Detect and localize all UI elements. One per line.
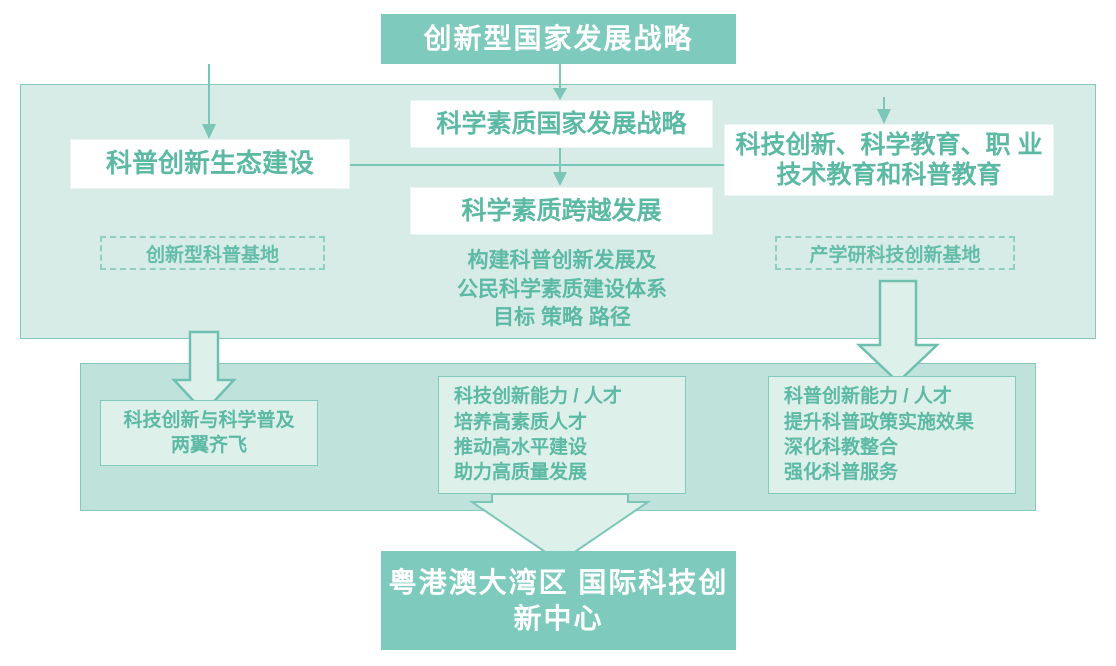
connector-line-horizontal [350, 164, 742, 166]
dashed-box-industry-academia-research-base[interactable]: 产学研科技创新基地 [775, 236, 1015, 270]
box-popular-science-capability-line2: 提升科普政策实施效果 [784, 410, 1015, 435]
bottom-banner: 粤港澳大湾区 国际科技创新中心 [381, 551, 736, 650]
box-popular-science-capability-line4: 强化科普服务 [784, 460, 1015, 485]
box-tech-innovation-capability[interactable]: 科技创新能力 / 人才 培养高素质人才 推动高水平建设 助力高质量发展 [438, 376, 686, 494]
box-popular-science-capability[interactable]: 科普创新能力 / 人才 提升科普政策实施效果 深化科教整合 强化科普服务 [768, 376, 1016, 494]
box-popular-science-capability-line1: 科普创新能力 / 人才 [784, 384, 1015, 409]
box-tech-innovation-education-line1: 科技创新、科学教育、职 [736, 131, 1011, 159]
dashed-box-innovative-popular-science-base[interactable]: 创新型科普基地 [100, 236, 325, 270]
box-two-wings-line2: 两翼齐飞 [123, 433, 294, 458]
center-objective-text: 构建科普创新发展及 公民科学素质建设体系 目标 策略 路径 [400, 248, 724, 332]
box-two-wings-line1: 科技创新与科学普及 [123, 408, 294, 433]
box-popular-science-capability-line3: 深化科教整合 [784, 435, 1015, 460]
box-tech-innovation-capability-line3: 推动高水平建设 [454, 435, 685, 460]
bottom-banner-line1: 粤港澳大湾区 [389, 567, 569, 598]
center-objective-line1: 构建科普创新发展及 [468, 247, 657, 275]
box-tech-innovation-education[interactable]: 科技创新、科学教育、职 业技术教育和科普教育 [724, 124, 1054, 196]
box-science-quality-leapfrog-development[interactable]: 科学素质跨越发展 [410, 187, 713, 235]
box-tech-innovation-capability-line1: 科技创新能力 / 人才 [454, 384, 685, 409]
box-science-popularization-innovation-ecology[interactable]: 科普创新生态建设 [70, 139, 350, 189]
box-tech-innovation-capability-line4: 助力高质量发展 [454, 460, 685, 485]
diagram-canvas: 创新型国家发展战略 科普创新生态建设 科学素质国家发展战略 科学素质跨越发展 科… [0, 0, 1116, 666]
top-banner: 创新型国家发展战略 [381, 14, 736, 64]
box-tech-innovation-capability-line2: 培养高素质人才 [454, 410, 685, 435]
box-two-wings[interactable]: 科技创新与科学普及 两翼齐飞 [100, 400, 318, 466]
box-science-quality-national-strategy[interactable]: 科学素质国家发展战略 [410, 100, 713, 148]
center-objective-line3: 目标 策略 路径 [493, 304, 631, 332]
center-objective-line2: 公民科学素质建设体系 [457, 276, 667, 304]
